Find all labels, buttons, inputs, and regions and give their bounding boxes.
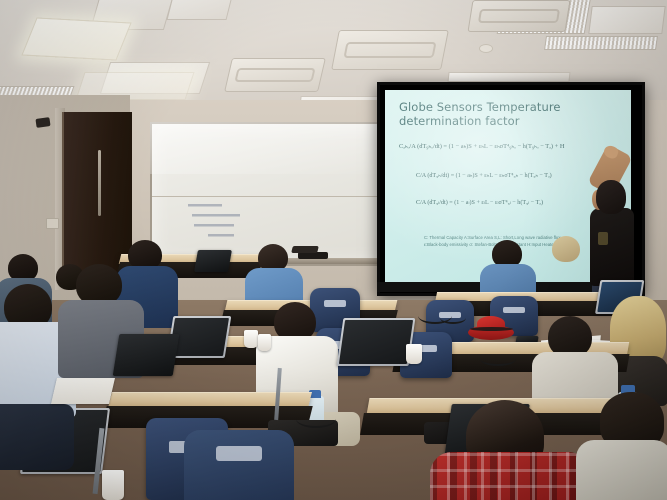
coffee-cup[interactable] <box>258 334 271 351</box>
red-plaid-shirt <box>430 452 590 500</box>
ceiling-panel <box>167 0 234 20</box>
cable <box>296 410 336 428</box>
slide-legend-line-1: C: Thermal Capacity A:Surface Area S,L: … <box>424 235 561 240</box>
attendee-head <box>552 236 580 262</box>
papers <box>51 378 115 404</box>
ceiling-seam <box>447 72 570 82</box>
chair-tag <box>324 300 346 307</box>
whiteboard-glare <box>150 122 400 174</box>
slide-title-line-1: Globe Sensors Temperature <box>399 101 614 115</box>
chair-tag <box>503 307 524 313</box>
chair[interactable] <box>184 430 294 500</box>
ceiling-light <box>21 17 131 60</box>
laptop[interactable] <box>113 334 180 376</box>
whiteboard-divider <box>152 196 398 197</box>
hvac-unit <box>224 58 326 92</box>
slide-title-line-2: determination factor <box>399 115 614 129</box>
chair-tag <box>216 446 262 461</box>
desk-item <box>291 246 319 253</box>
coffee-cup[interactable] <box>102 470 124 500</box>
coffee-cup[interactable] <box>244 330 258 348</box>
ceiling-vent <box>544 36 658 50</box>
red-fedora-band <box>470 327 513 331</box>
presenter-torso <box>590 208 634 286</box>
presenter-shirt-graphic <box>598 232 608 245</box>
wall-outlet[interactable] <box>46 218 59 229</box>
cable <box>440 312 466 324</box>
attendee-torso <box>576 440 667 500</box>
slide-equation-1: Cₐₕₒ/A (dT₉ₕₒ/dt) = (1 − aₕ)S + εₕL − εₕ… <box>399 142 564 150</box>
lecture-hall-photo: Globe Sensors Temperature determination … <box>0 0 667 500</box>
wall-speaker <box>35 117 50 128</box>
smoke-detector-icon <box>479 44 493 53</box>
slide-equation-2: C/A (dT₉ₕ/dt) = (1 − aₕ)S + εₕL − εₕσT⁴₉… <box>416 172 552 179</box>
hvac-unit <box>467 0 570 32</box>
whiteboard-writing <box>188 202 284 242</box>
laptop[interactable] <box>194 250 232 272</box>
marker-on-tray <box>298 252 328 259</box>
cable <box>480 352 516 366</box>
ceiling-panel <box>588 6 665 34</box>
slide-equation-3: C/A (dT₉ₗ/dt) = (1 − aₗ)S + εₗL − εₗσT⁴₉… <box>416 199 543 206</box>
hvac-unit <box>331 30 449 70</box>
presenter-head <box>596 180 626 214</box>
laptop[interactable] <box>337 318 416 366</box>
coffee-cup[interactable] <box>406 344 422 364</box>
door-handle[interactable] <box>98 150 101 216</box>
slide-title: Globe Sensors Temperature determination … <box>399 101 614 128</box>
attendee-legs <box>0 404 74 470</box>
